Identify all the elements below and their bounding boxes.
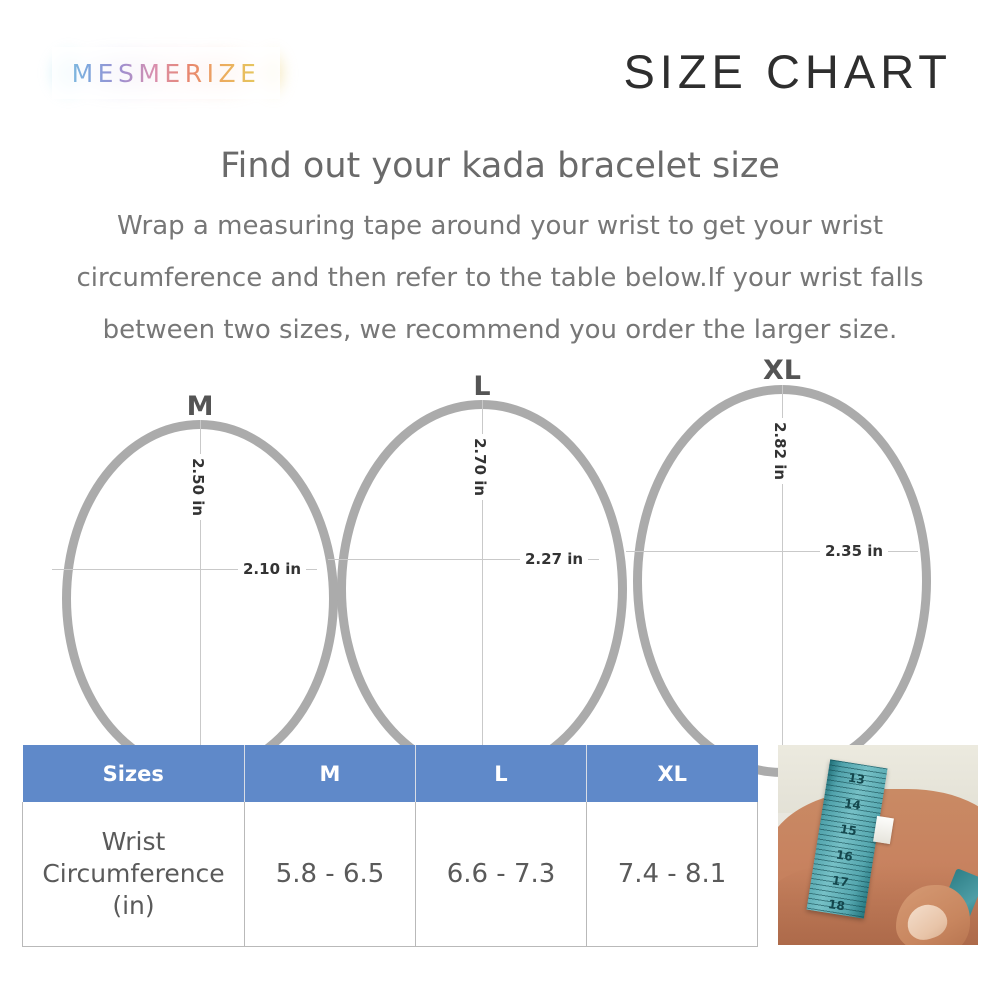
oval-diagrams: M 2.10 in 2.50 in L 2.27 in 2.70 in XL 2…	[0, 350, 1000, 750]
page-title: SIZE CHART	[623, 44, 952, 99]
oval-height-label-m: 2.50 in	[188, 454, 208, 520]
logo-text: MESMERIZE	[52, 47, 280, 99]
headline: Find out your kada bracelet size	[0, 146, 1000, 186]
oval-size-label-l: L	[473, 371, 490, 402]
oval-height-label-xl: 2.82 in	[770, 418, 790, 484]
oval-width-label-m: 2.10 in	[238, 559, 306, 579]
table-header-row: Sizes M L XL	[23, 745, 758, 802]
table-header-l: L	[416, 745, 587, 802]
table-header-m: M	[245, 745, 416, 802]
table-row-label: Wrist Circumference (in)	[23, 802, 245, 947]
table-cell-m: 5.8 - 6.5	[245, 802, 416, 947]
table-header-sizes: Sizes	[23, 745, 245, 802]
table-header-xl: XL	[587, 745, 758, 802]
table-cell-l: 6.6 - 7.3	[416, 802, 587, 947]
oval-size-label-xl: XL	[763, 355, 801, 386]
brand-logo: MESMERIZE	[52, 47, 280, 99]
oval-width-label-l: 2.27 in	[520, 549, 588, 569]
table-row: Wrist Circumference (in) 5.8 - 6.5 6.6 -…	[23, 802, 758, 947]
intro-paragraph: Wrap a measuring tape around your wrist …	[50, 200, 950, 356]
wrist-measuring-photo: 13 14 15 16 17 18	[778, 745, 978, 945]
oval-height-label-l: 2.70 in	[470, 434, 490, 500]
oval-size-label-m: M	[187, 391, 214, 422]
size-table: Sizes M L XL Wrist Circumference (in) 5.…	[22, 745, 758, 947]
table-cell-xl: 7.4 - 8.1	[587, 802, 758, 947]
oval-width-label-xl: 2.35 in	[820, 541, 888, 561]
